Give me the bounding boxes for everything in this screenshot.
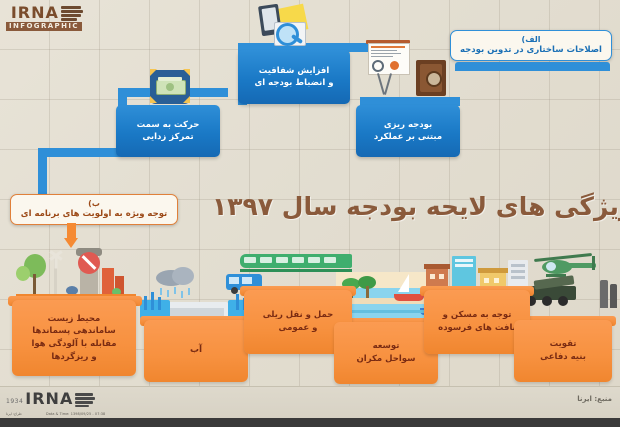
top-item-decentralization[interactable]: حرکت به سمت تمرکز زدایی	[116, 105, 220, 157]
bottom-item-water[interactable]: آب	[144, 320, 248, 382]
source-label: منبع: ایرنا	[577, 395, 612, 403]
section-a-marker: الف)	[522, 34, 541, 45]
presentation-board-safe-icon	[360, 38, 450, 98]
blue-connector-seg-1	[455, 62, 610, 71]
documents-magnifier-icon	[258, 2, 320, 48]
section-a-label: اصلاحات ساختاری در تدوین بودجه	[460, 45, 602, 57]
bottom-item-environment[interactable]: محیط زیست ساماندهی پسماندها مقابله با آل…	[12, 300, 136, 376]
top-item-transparency-line1: افزایش شفافیت	[255, 65, 334, 77]
header-logo: IRNA INFOGRAPHIC	[6, 5, 83, 31]
blue-connector-seg-7	[38, 148, 124, 157]
top-item-transparency-line2: و انضباط بودجه ای	[255, 77, 334, 89]
bottom-item-housing-line1: توجه به مسکن و	[438, 309, 516, 322]
infographic-tag: INFOGRAPHIC	[6, 22, 82, 31]
top-item-performance-line1: بودجه ریزی	[374, 119, 442, 131]
bottom-item-water-line1: آب	[190, 344, 202, 358]
top-item-decentralization-line2: تمرکز زدایی	[137, 131, 200, 143]
bottom-item-transport-line2: و عمومی	[263, 322, 334, 335]
bottom-item-environment-line2: ساماندهی پسماندها	[31, 325, 116, 338]
bottom-item-defense[interactable]: تقویت بنیه دفاعی	[514, 320, 612, 382]
footer-bar	[0, 418, 620, 427]
bottom-item-housing-line2: بافت های فرسوده	[438, 322, 516, 335]
infographic-canvas: IRNA INFOGRAPHIC الف) اصلاحات ساختاری در…	[0, 0, 620, 427]
top-item-performance-line2: مبتنی بر عملکرد	[374, 131, 442, 143]
bottom-item-environment-line1: محیط زیست	[31, 313, 116, 326]
irna-logo-text: IRNA	[11, 5, 59, 21]
footer-logo: IRNA 1934	[6, 391, 95, 407]
footer-logo-year: 1934	[6, 398, 23, 407]
section-a-callout[interactable]: الف) اصلاحات ساختاری در تدوین بودجه	[450, 30, 612, 61]
bottom-item-makran[interactable]: توسعه سواحل مکران	[334, 322, 438, 384]
section-b-callout[interactable]: ب) توجه ویژه به اولویت های برنامه ای	[10, 194, 178, 225]
top-item-decentralization-line1: حرکت به سمت	[137, 119, 200, 131]
helicopter-missile-icon	[516, 250, 620, 310]
bottom-item-defense-line1: تقویت	[540, 338, 586, 351]
irna-footer-logo-mark-icon	[75, 392, 95, 407]
bottom-item-makran-line1: توسعه	[357, 340, 416, 353]
factory-trees-windmill-icon	[16, 248, 136, 303]
money-stack-icon	[148, 66, 192, 106]
footer-meta-fa: طراح: ایرنا	[6, 412, 22, 416]
orange-arrow-head-icon	[64, 238, 78, 248]
top-item-performance[interactable]: بودجه ریزی مبتنی بر عملکرد	[356, 105, 460, 157]
footer: IRNA 1934 طراح: ایرنا Data & Time: 1398/…	[0, 386, 620, 427]
irna-logo-mark-icon	[61, 5, 83, 21]
bottom-item-makran-line2: سواحل مکران	[357, 353, 416, 366]
page-title: ویژگی های لایحه بودجه سال ۱۳۹۷	[212, 192, 620, 221]
bottom-item-defense-line2: بنیه دفاعی	[540, 351, 586, 364]
section-b-label: توجه ویژه به اولویت های برنامه ای	[21, 209, 167, 221]
footer-logo-text: IRNA	[25, 391, 73, 407]
bottom-item-transport-line1: حمل و نقل ریلی	[263, 309, 334, 322]
section-b-marker: ب)	[88, 198, 100, 209]
top-item-transparency[interactable]: افزایش شفافیت و انضباط بودجه ای	[238, 50, 350, 104]
bottom-item-environment-line4: و ریزگردها	[31, 351, 116, 364]
bottom-item-environment-line3: مقابله با آلودگی هوا	[31, 338, 116, 351]
footer-meta: Data & Time: 1398/09/25 - 07:38	[46, 412, 105, 416]
